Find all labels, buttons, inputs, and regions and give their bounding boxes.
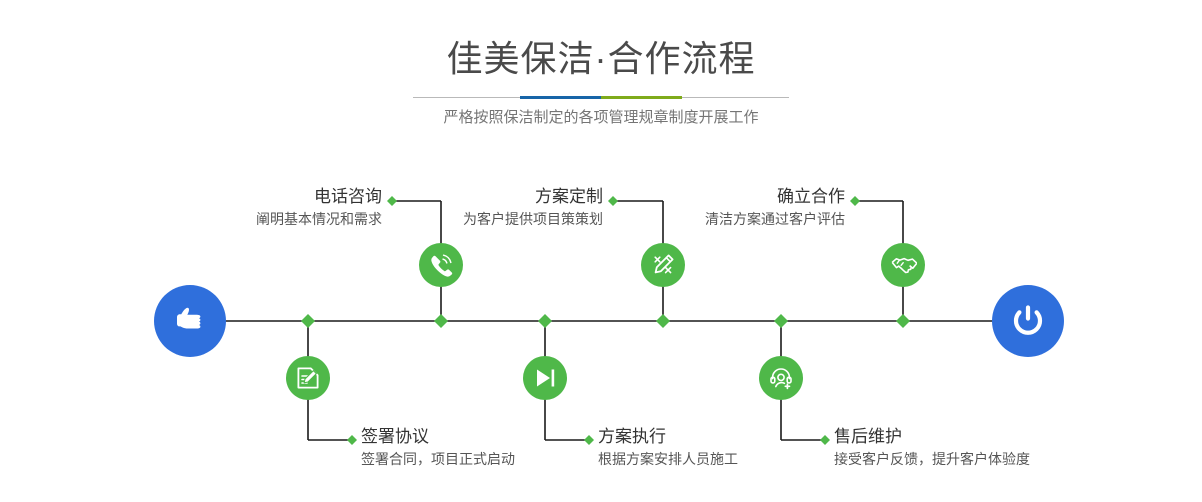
step-label-above-2: 方案定制 为客户提供项目策策划 [330, 186, 603, 230]
step-icon-phone-call[interactable] [419, 243, 463, 287]
flow-diagram-page: 佳美保洁·合作流程 严格按照保洁制定的各项管理规章制度开展工作 [0, 0, 1202, 502]
timeline-marker [896, 314, 910, 328]
step-desc: 为客户提供项目策策划 [330, 208, 603, 230]
play-execute-icon [532, 365, 558, 391]
label-marker [850, 196, 860, 206]
timeline-marker [656, 314, 670, 328]
timeline-marker [774, 314, 788, 328]
support-headset-icon [768, 365, 794, 391]
power-icon [1007, 300, 1049, 342]
flow-start-node[interactable] [154, 285, 226, 357]
step-icon-play-execute[interactable] [523, 356, 567, 400]
pencil-plan-icon [650, 252, 676, 278]
phone-call-icon [428, 252, 454, 278]
step-label-below-1: 签署协议 签署合同，项目正式启动 [361, 426, 515, 470]
pointing-hand-icon [170, 301, 210, 341]
step-title: 方案执行 [598, 426, 738, 448]
timeline-marker [434, 314, 448, 328]
step-desc: 根据方案安排人员施工 [598, 448, 738, 470]
step-title: 方案定制 [330, 186, 603, 208]
step-desc: 清洁方案通过客户评估 [570, 208, 845, 230]
step-desc: 接受客户反馈，提升客户体验度 [834, 448, 1030, 470]
label-marker [584, 435, 594, 445]
step-title: 签署协议 [361, 426, 515, 448]
flow-end-node[interactable] [992, 285, 1064, 357]
step-title: 售后维护 [834, 426, 1030, 448]
step-title: 确立合作 [570, 186, 845, 208]
timeline-marker [301, 314, 315, 328]
step-icon-pencil-plan[interactable] [641, 243, 685, 287]
label-marker [347, 435, 357, 445]
step-label-below-2: 方案执行 根据方案安排人员施工 [598, 426, 738, 470]
process-flow: 电话咨询 阐明基本情况和需求 方案定制 为客户提供项目策策划 确立合作 清洁方案… [0, 0, 1202, 502]
step-icon-handshake[interactable] [881, 243, 925, 287]
handshake-icon [890, 252, 917, 279]
label-marker [820, 435, 830, 445]
step-icon-sign-document[interactable] [286, 356, 330, 400]
step-icon-support-headset[interactable] [759, 356, 803, 400]
timeline-marker [538, 314, 552, 328]
step-label-below-3: 售后维护 接受客户反馈，提升客户体验度 [834, 426, 1030, 470]
step-desc: 签署合同，项目正式启动 [361, 448, 515, 470]
step-label-above-3: 确立合作 清洁方案通过客户评估 [570, 186, 845, 230]
sign-document-icon [295, 365, 321, 391]
